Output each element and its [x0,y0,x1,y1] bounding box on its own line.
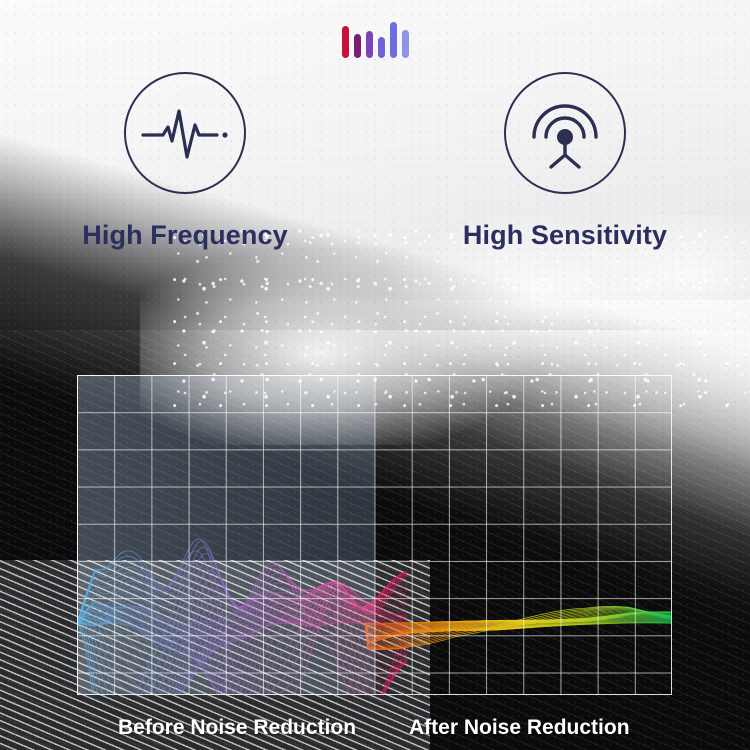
feature-high-frequency: High Frequency [60,72,310,251]
feature-label: High Sensitivity [440,220,690,251]
poster-root: High Frequency High Sensitivity Before N… [0,0,750,750]
logo-bar-1 [354,34,361,58]
logo-bar-2 [366,31,373,58]
brand-logo [0,18,750,58]
logo-bar-5 [402,30,409,58]
pulse-waveform-icon [124,72,246,194]
caption-before: Before Noise Reduction [118,716,356,740]
chart-border [77,375,672,695]
logo-bar-0 [342,26,349,58]
logo-bar-3 [378,37,385,58]
feature-label: High Frequency [60,220,310,251]
noise-reduction-comparison-panel [77,375,672,695]
logo-bar-4 [390,22,397,58]
antenna-signal-icon [504,72,626,194]
feature-high-sensitivity: High Sensitivity [440,72,690,251]
caption-after: After Noise Reduction [409,716,630,740]
